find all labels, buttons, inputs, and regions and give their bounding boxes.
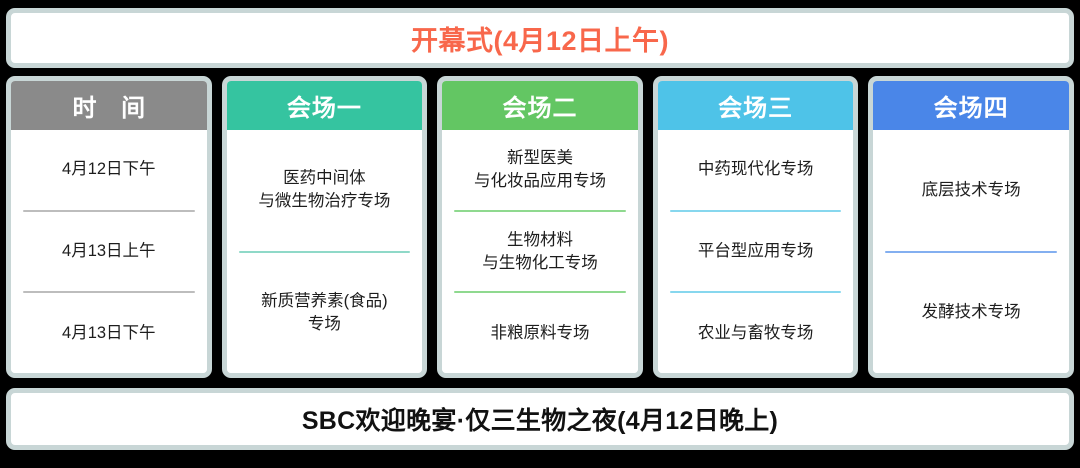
- session-cell: 底层技术专场: [873, 130, 1069, 251]
- time-slot: 4月12日下午: [11, 130, 207, 210]
- session-label: 发酵技术专场: [922, 301, 1021, 324]
- opening-ceremony-title: 开幕式(4月12日上午): [411, 19, 669, 58]
- column-venue-4-header: 会场四: [873, 81, 1069, 130]
- column-time: 时 间 4月12日下午 4月13日上午 4月13日下午: [6, 76, 212, 378]
- column-time-body: 4月12日下午 4月13日上午 4月13日下午: [11, 130, 207, 373]
- column-venue-1-body: 医药中间体 与微生物治疗专场 新质营养素(食品) 专场: [227, 130, 423, 373]
- session-cell: 农业与畜牧专场: [658, 293, 854, 373]
- session-label: 非粮原料专场: [490, 322, 589, 345]
- column-venue-2-header-label: 会场二: [502, 88, 577, 123]
- column-venue-4-header-label: 会场四: [934, 88, 1009, 123]
- session-label: 中药现代化专场: [698, 158, 814, 181]
- session-cell: 医药中间体 与微生物治疗专场: [227, 130, 423, 251]
- column-venue-3-header: 会场三: [658, 81, 854, 130]
- time-slot-label: 4月13日下午: [62, 322, 156, 345]
- column-venue-4: 会场四 底层技术专场 发酵技术专场: [868, 76, 1074, 378]
- schedule-table: 开幕式(4月12日上午) 时 间 4月12日下午 4月13日上午 4月13日下午: [0, 0, 1080, 468]
- time-slot: 4月13日下午: [11, 293, 207, 373]
- time-slot: 4月13日上午: [11, 212, 207, 292]
- session-label: 新质营养素(食品) 专场: [261, 290, 388, 336]
- session-label: 底层技术专场: [922, 179, 1021, 202]
- column-time-header-label: 时 间: [63, 88, 154, 123]
- column-venue-1: 会场一 医药中间体 与微生物治疗专场 新质营养素(食品) 专场: [222, 76, 428, 378]
- session-cell: 新质营养素(食品) 专场: [227, 253, 423, 374]
- column-venue-3-body: 中药现代化专场 平台型应用专场 农业与畜牧专场: [658, 130, 854, 373]
- session-cell: 中药现代化专场: [658, 130, 854, 210]
- session-label: 平台型应用专场: [698, 240, 814, 263]
- session-label: 农业与畜牧专场: [698, 322, 814, 345]
- session-label: 医药中间体 与微生物治疗专场: [258, 167, 390, 213]
- session-cell: 生物材料 与生物化工专场: [442, 212, 638, 292]
- column-venue-4-body: 底层技术专场 发酵技术专场: [873, 130, 1069, 373]
- column-venue-1-header: 会场一: [227, 81, 423, 130]
- session-cell: 平台型应用专场: [658, 212, 854, 292]
- column-venue-2: 会场二 新型医美 与化妆品应用专场 生物材料 与生物化工专场 非粮原料专场: [437, 76, 643, 378]
- columns-row: 时 间 4月12日下午 4月13日上午 4月13日下午 会场一: [6, 76, 1074, 378]
- column-venue-3: 会场三 中药现代化专场 平台型应用专场 农业与畜牧专场: [653, 76, 859, 378]
- column-venue-3-header-label: 会场三: [718, 88, 793, 123]
- column-venue-2-header: 会场二: [442, 81, 638, 130]
- welcome-dinner-title: SBC欢迎晚宴·仅三生物之夜(4月12日晚上): [302, 401, 778, 437]
- column-venue-1-header-label: 会场一: [287, 88, 362, 123]
- session-cell: 新型医美 与化妆品应用专场: [442, 130, 638, 210]
- session-cell: 发酵技术专场: [873, 253, 1069, 374]
- session-cell: 非粮原料专场: [442, 293, 638, 373]
- session-label: 生物材料 与生物化工专场: [482, 229, 598, 275]
- session-label: 新型医美 与化妆品应用专场: [474, 147, 606, 193]
- time-slot-label: 4月12日下午: [62, 158, 156, 181]
- column-time-header: 时 间: [11, 81, 207, 130]
- opening-ceremony-banner: 开幕式(4月12日上午): [6, 8, 1074, 68]
- time-slot-label: 4月13日上午: [62, 240, 156, 263]
- column-venue-2-body: 新型医美 与化妆品应用专场 生物材料 与生物化工专场 非粮原料专场: [442, 130, 638, 373]
- welcome-dinner-banner: SBC欢迎晚宴·仅三生物之夜(4月12日晚上): [6, 388, 1074, 450]
